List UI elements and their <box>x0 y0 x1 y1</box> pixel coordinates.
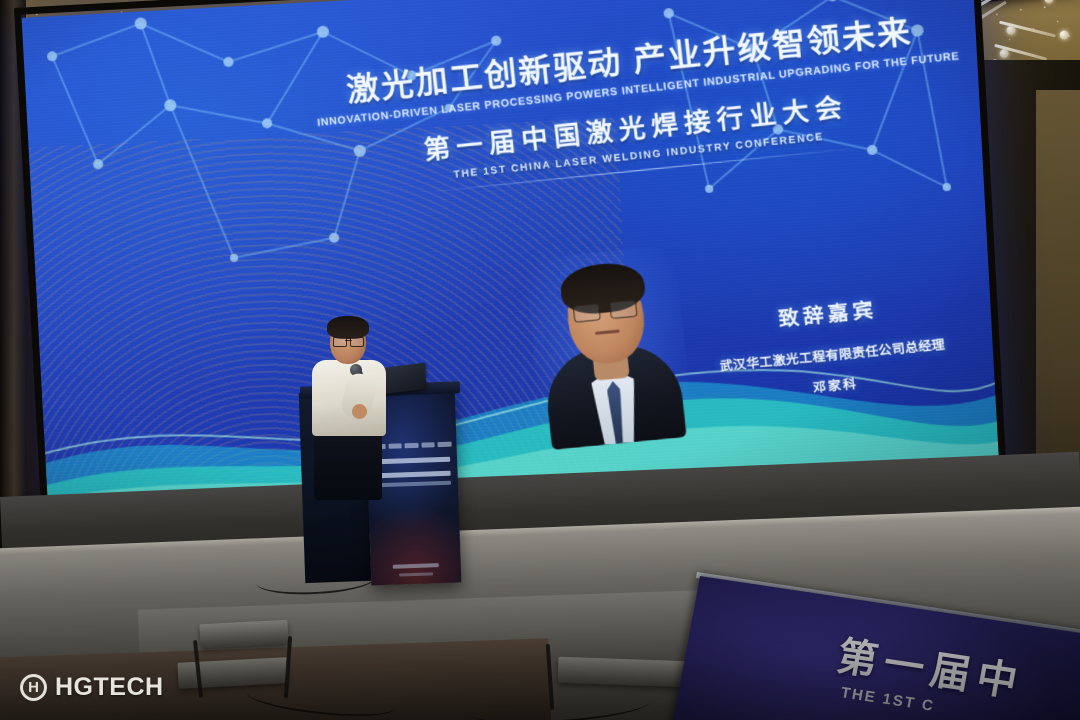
speaker-portrait-photo <box>524 245 695 451</box>
presenter-hair <box>327 316 369 339</box>
conference-stage-photo: 激光加工创新驱动 产业升级智领未来 INNOVATION-DRIVEN LASE… <box>0 0 1080 720</box>
presenter-hand <box>352 404 367 419</box>
hgtech-logo: HGTECH <box>20 673 164 702</box>
led-display-screen: 激光加工创新驱动 产业升级智领未来 INNOVATION-DRIVEN LASE… <box>20 0 1004 518</box>
podium-subtitle-line <box>375 481 451 487</box>
presenter-glasses-icon <box>333 337 364 345</box>
podium-footer-line <box>393 563 439 569</box>
presenter-at-podium <box>300 312 396 432</box>
podium-sponsor-logos <box>371 441 451 451</box>
presenter-lower-body <box>314 430 382 500</box>
hgtech-circle-h-icon <box>20 674 47 701</box>
stage-step-block <box>199 620 288 649</box>
hgtech-wordmark: HGTECH <box>55 673 164 702</box>
podium-title-line <box>374 457 450 465</box>
podium-title-line <box>375 471 451 479</box>
podium-footer-line <box>399 572 433 576</box>
